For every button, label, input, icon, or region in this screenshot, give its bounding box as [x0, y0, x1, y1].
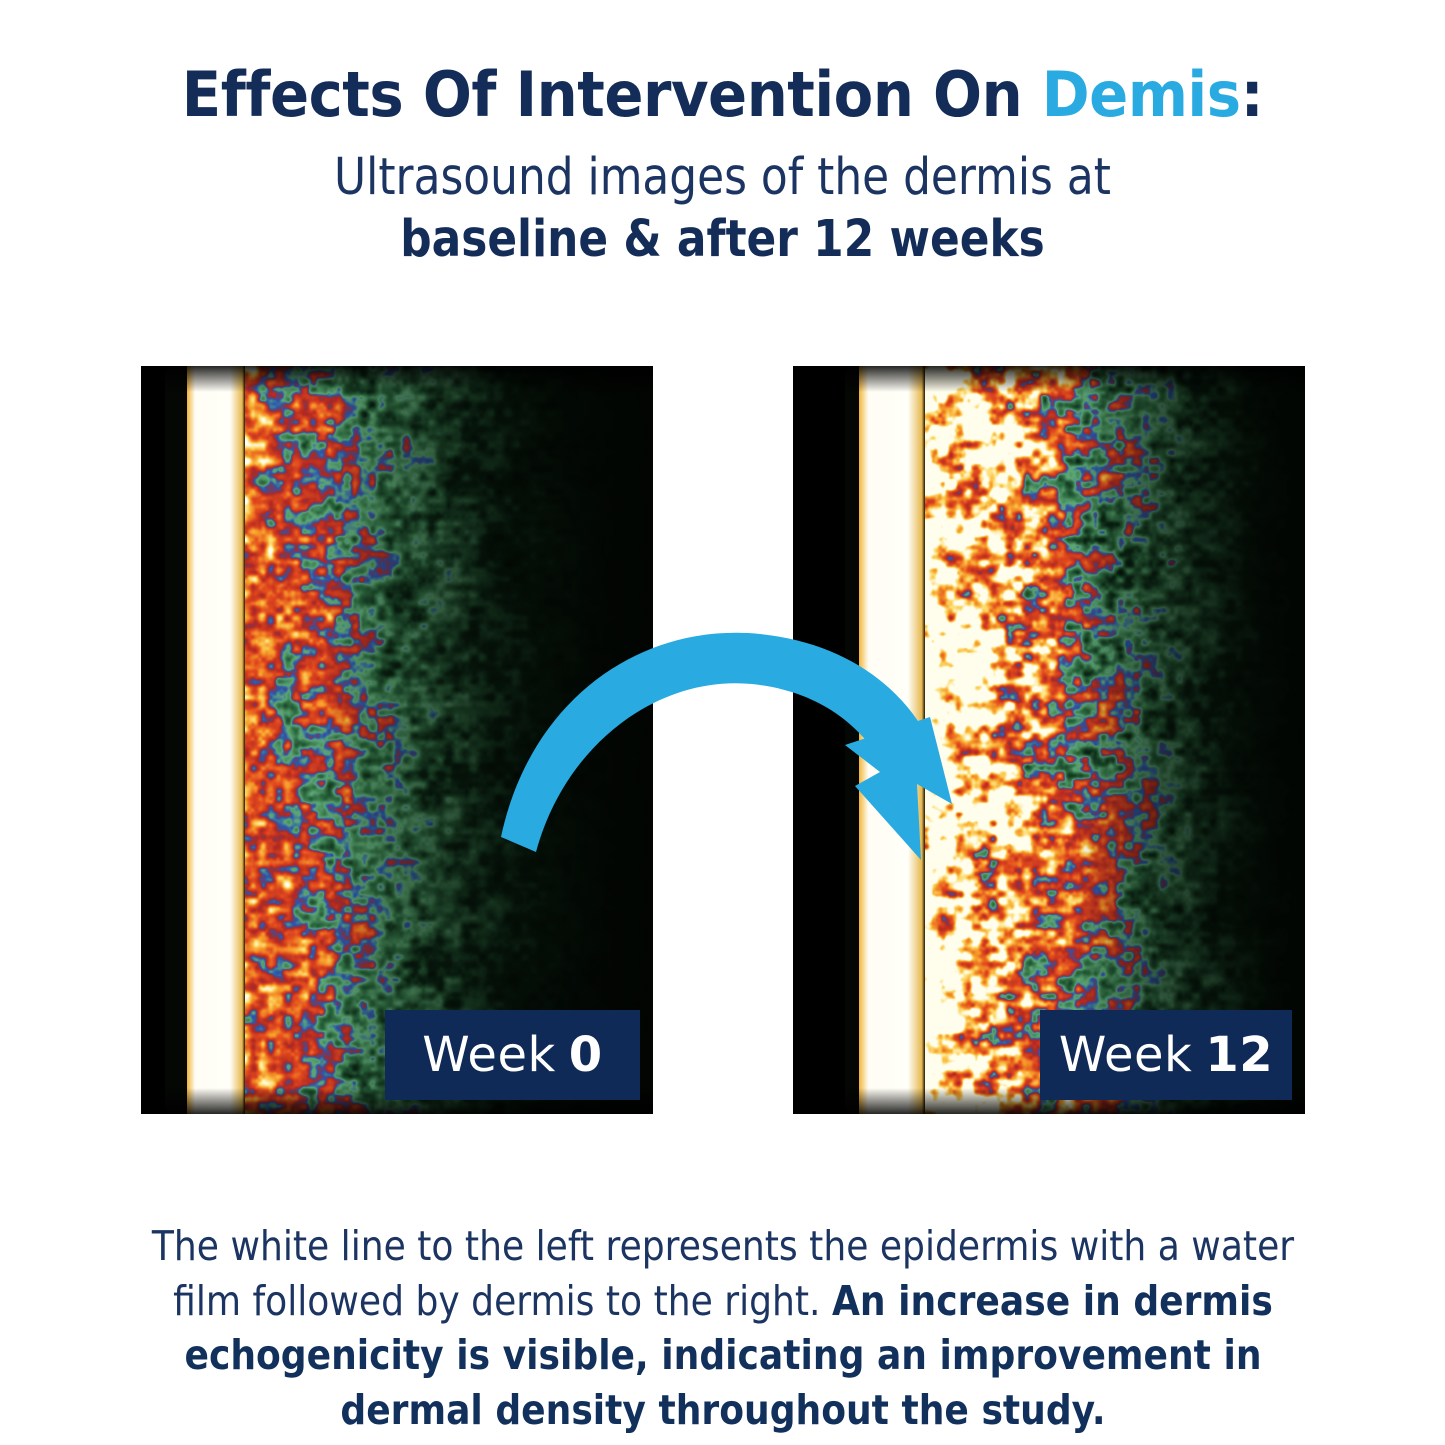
- scan-area-week-12: [845, 366, 1305, 1114]
- depth-fade-week-0: [323, 366, 653, 1114]
- page-title: Effects Of Intervention On Demis:: [51, 0, 1395, 127]
- dermis-tissue-week-0: [245, 366, 653, 1114]
- scan-area-week-0: [165, 366, 653, 1114]
- status-badge-week-12: Week12: [1040, 1010, 1292, 1100]
- status-badge-week-0: Week0: [385, 1010, 640, 1100]
- epidermis-line-week-0: [187, 366, 245, 1114]
- top-fade-week-0: [165, 366, 653, 392]
- ultrasound-comparison: [0, 366, 1445, 1114]
- infographic-page: Effects Of Intervention On Demis: Ultras…: [0, 0, 1445, 1445]
- epidermis-line-week-12: [859, 366, 925, 1114]
- title-text: Effects Of Intervention On: [182, 58, 1042, 131]
- header: Effects Of Intervention On Demis: Ultras…: [0, 0, 1445, 272]
- title-colon: :: [1241, 58, 1264, 131]
- badge-value-week-12: 12: [1205, 1027, 1273, 1083]
- badge-label-week-0: Week: [422, 1027, 556, 1083]
- ultrasound-panel-week-12: [793, 366, 1305, 1114]
- badge-label-week-12: Week: [1059, 1027, 1193, 1083]
- ultrasound-panel-week-0: [141, 366, 653, 1114]
- subtitle-line-2: baseline & after 12 weeks: [400, 210, 1045, 269]
- subtitle-line-1: Ultrasound images of the dermis at: [334, 148, 1111, 207]
- page-subtitle: Ultrasound images of the dermis atbaseli…: [101, 127, 1344, 271]
- dermis-tissue-week-12: [925, 366, 1305, 1114]
- depth-fade-week-12: [1075, 366, 1305, 1114]
- title-accent-word: Demis: [1042, 58, 1241, 131]
- badge-value-week-0: 0: [569, 1027, 603, 1083]
- caption: The white line to the left represents th…: [142, 1219, 1304, 1437]
- top-fade-week-12: [845, 366, 1305, 392]
